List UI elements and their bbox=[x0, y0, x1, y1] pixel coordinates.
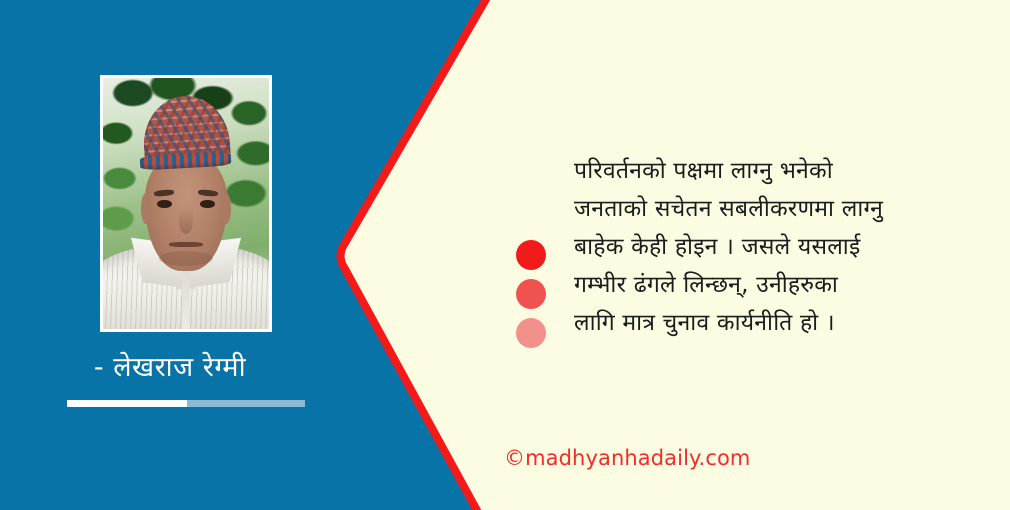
quote-dot-3 bbox=[516, 318, 546, 348]
attribution-rule bbox=[67, 400, 305, 407]
quote-line-5: लागि मात्र चुनाव कार्यनीति हो । bbox=[574, 304, 974, 342]
quote-line-3: बाहेक केही होइन । जसले यसलाई bbox=[574, 228, 974, 266]
nose bbox=[179, 209, 192, 234]
quote-line-2: जनताको सचेतन सबलीकरणमा लाग्नु bbox=[574, 190, 974, 228]
ear-left bbox=[141, 193, 151, 223]
quote-line-1: परिवर्तनको पक्षमा लाग्नु भनेको bbox=[574, 152, 974, 190]
mouth bbox=[169, 242, 202, 247]
quote-decor-dots bbox=[516, 240, 548, 357]
site-credit: ©madhyanhadaily.com bbox=[504, 445, 750, 471]
quote-dot-2 bbox=[516, 279, 546, 309]
quote-dot-1 bbox=[516, 240, 546, 270]
portrait-column: - लेखराज रेग्मी bbox=[0, 0, 340, 510]
rule-segment-light bbox=[67, 400, 187, 407]
rule-segment-dark bbox=[187, 400, 305, 407]
shirt-placket bbox=[182, 269, 190, 329]
chin-shadow bbox=[159, 251, 212, 266]
quote-text: परिवर्तनको पक्षमा लाग्नु भनेकोजनताको सचे… bbox=[574, 152, 974, 342]
eye-left bbox=[157, 200, 172, 209]
quote-card: - लेखराज रेग्मी परिवर्तनको पक्षमा लाग्नु… bbox=[0, 0, 1010, 510]
portrait-frame bbox=[100, 75, 272, 332]
ear-right bbox=[221, 193, 231, 223]
portrait-photo bbox=[103, 78, 269, 329]
attribution-name: - लेखराज रेग्मी bbox=[0, 351, 340, 385]
quote-line-4: गम्भीर ढंगले लिन्छन्, उनीहरुका bbox=[574, 266, 974, 304]
